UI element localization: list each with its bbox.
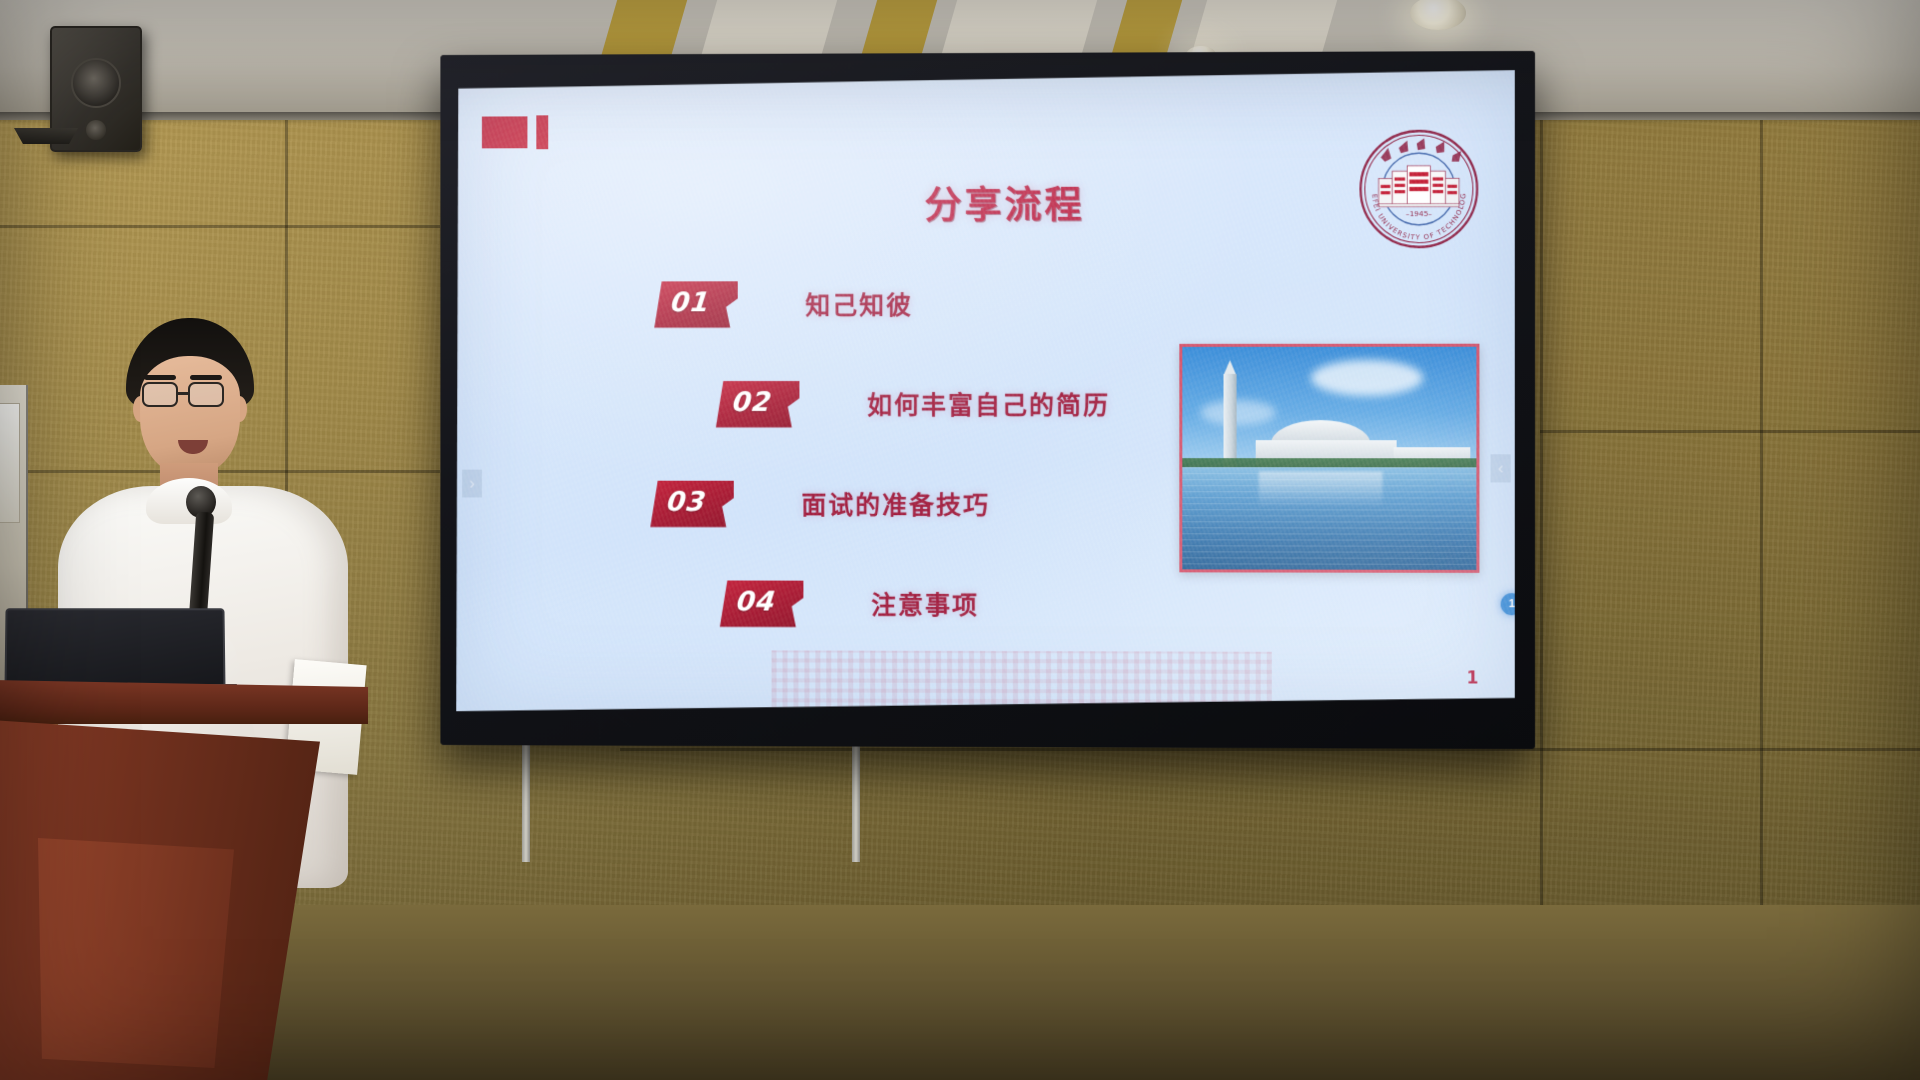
slide-page-number: 1 <box>1466 668 1478 688</box>
red-corner-mark-icon <box>482 115 548 149</box>
wall-seam <box>1540 120 1543 905</box>
flow-item-01: 01 知己知彼 <box>456 253 1515 354</box>
corner-mark-bar <box>536 115 548 149</box>
hefei-university-of-technology-logo-icon: –1945– HEFEI UNIVERSITY OF TECHNOLOGY <box>1355 126 1482 253</box>
flow-number: 04 <box>735 586 778 617</box>
flow-label: 面试的准备技巧 <box>801 486 990 522</box>
photo-water-ripples <box>1182 467 1476 570</box>
screenshot-scene: 分享流程 <box>0 0 1920 1080</box>
presenter-face <box>140 356 240 474</box>
flow-number-badge: 04 <box>720 580 804 627</box>
flow-number-badge: 02 <box>716 381 800 428</box>
wall-seam <box>620 748 1920 751</box>
laptop-screen <box>4 608 225 690</box>
photo-cloud <box>1200 400 1276 424</box>
lectern-top-surface <box>0 680 368 724</box>
flow-number-badge: 01 <box>654 281 737 328</box>
flow-number-badge: 03 <box>650 480 733 527</box>
lectern <box>0 680 370 1080</box>
wall-seam <box>1540 430 1920 433</box>
flow-label: 知己知彼 <box>805 286 913 322</box>
lectern-body <box>0 720 320 1080</box>
slide-viewport: 分享流程 <box>456 70 1515 715</box>
campus-photo <box>1179 344 1479 573</box>
wall-seam <box>1760 120 1763 905</box>
next-slide-arrow[interactable]: ‹ <box>1491 454 1511 482</box>
presenter-eyebrow <box>144 375 176 380</box>
speaker-tweeter-icon <box>86 120 106 140</box>
lectern-front-panel <box>38 838 234 1068</box>
prev-slide-arrow[interactable]: › <box>462 470 482 498</box>
flow-number: 01 <box>669 287 712 318</box>
wall-panel-insert <box>0 403 20 523</box>
photo-cloud <box>1311 360 1423 396</box>
speaker-driver-icon <box>71 58 121 108</box>
flow-label: 如何丰富自己的简历 <box>867 386 1110 422</box>
svg-text:–1945–: –1945– <box>1406 209 1433 218</box>
flow-number: 02 <box>731 387 774 418</box>
tv-stand-leg <box>522 744 530 862</box>
corner-mark-block <box>482 116 528 148</box>
display-screen: 分享流程 <box>440 51 1535 749</box>
flow-label: 注意事项 <box>871 586 979 622</box>
tv-stand-leg <box>852 744 860 862</box>
presenter-glasses-bridge <box>178 392 188 395</box>
presenter-glasses-lens <box>188 382 224 407</box>
presenter-glasses-lens <box>142 382 178 407</box>
photo-tower <box>1223 374 1236 467</box>
wall-seam <box>0 225 440 228</box>
speaker-mount-arm <box>14 128 78 144</box>
presentation-slide: 分享流程 <box>456 70 1515 715</box>
presenter-eyebrow <box>190 375 222 380</box>
flow-number: 03 <box>666 486 709 517</box>
